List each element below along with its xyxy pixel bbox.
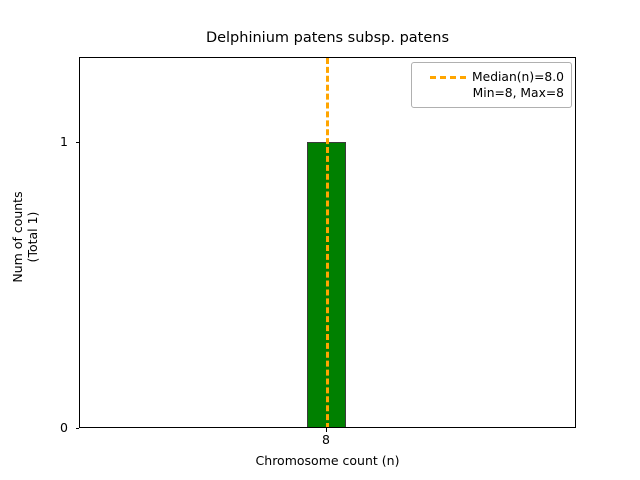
xtick-label-8: 8 [306, 433, 346, 447]
legend-label-minmax: Min=8, Max=8 [473, 85, 564, 101]
legend-label-median: Median(n)=8.0 [472, 69, 564, 85]
legend-entry-minmax: Min=8, Max=8 [420, 85, 564, 101]
figure-canvas: Delphinium patens subsp. patens 0 1 8 Ch… [0, 0, 640, 480]
ytick-mark-1 [76, 142, 80, 143]
dashed-line-swatch-icon [430, 71, 466, 83]
chart-title: Delphinium patens subsp. patens [79, 30, 576, 47]
legend-entry-median: Median(n)=8.0 [420, 69, 564, 85]
plot-area [79, 57, 576, 428]
ytick-mark-0 [76, 428, 80, 429]
x-axis-label: Chromosome count (n) [79, 454, 576, 468]
ytick-label-0: 0 [8, 421, 68, 434]
y-axis-label: Num of counts (Total 1) [10, 47, 40, 427]
ytick-label-1: 1 [8, 135, 68, 148]
legend: Median(n)=8.0 Min=8, Max=8 [411, 62, 572, 108]
y-axis-label-wrapper: Num of counts (Total 1) [0, 0, 70, 480]
xtick-mark-8 [326, 428, 327, 432]
median-line [326, 58, 329, 428]
